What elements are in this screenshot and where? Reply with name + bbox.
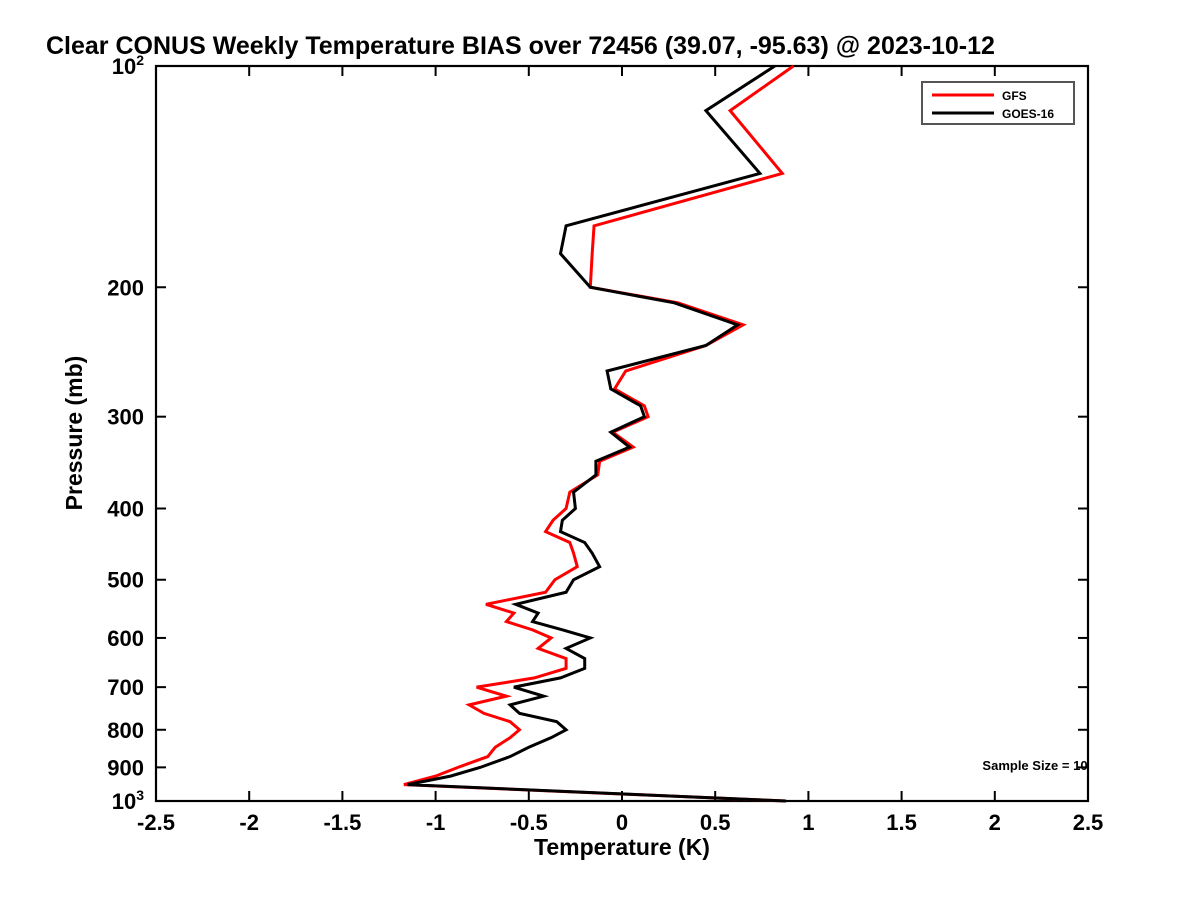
page-title: Clear CONUS Weekly Temperature BIAS over… [46, 32, 995, 60]
x-tick-label: -1.5 [323, 810, 361, 835]
figure-container: Clear CONUS Weekly Temperature BIAS over… [0, 0, 1200, 900]
x-tick-label: -2.5 [137, 810, 175, 835]
y-tick-label: 600 [107, 626, 144, 651]
y-tick-label: 700 [107, 675, 144, 700]
y-tick-label: 300 [107, 405, 144, 430]
x-tick-label: 2 [989, 810, 1001, 835]
x-tick-label: -2 [239, 810, 259, 835]
y-tick-label: 500 [107, 568, 144, 593]
y-axis-title: Pressure (mb) [61, 356, 87, 511]
x-tick-label: 0 [616, 810, 628, 835]
x-tick-label: 1.5 [886, 810, 917, 835]
y-tick-label: 900 [107, 755, 144, 780]
x-tick-label: 0.5 [700, 810, 731, 835]
sample-size-annotation: Sample Size = 10 [982, 758, 1087, 773]
x-tick-label: -0.5 [510, 810, 548, 835]
temperature-bias-profile-chart: Clear CONUS Weekly Temperature BIAS over… [0, 0, 1200, 900]
legend-label-goes-16: GOES-16 [1002, 107, 1054, 121]
x-axis-title: Temperature (K) [534, 834, 710, 860]
x-tick-label: -1 [426, 810, 446, 835]
x-tick-label: 2.5 [1073, 810, 1104, 835]
legend-label-gfs: GFS [1002, 89, 1027, 103]
y-tick-label: 200 [107, 275, 144, 300]
x-tick-label: 1 [802, 810, 814, 835]
y-tick-label: 800 [107, 718, 144, 743]
y-tick-label: 400 [107, 497, 144, 522]
chart-legend: GFSGOES-16 [922, 82, 1074, 124]
